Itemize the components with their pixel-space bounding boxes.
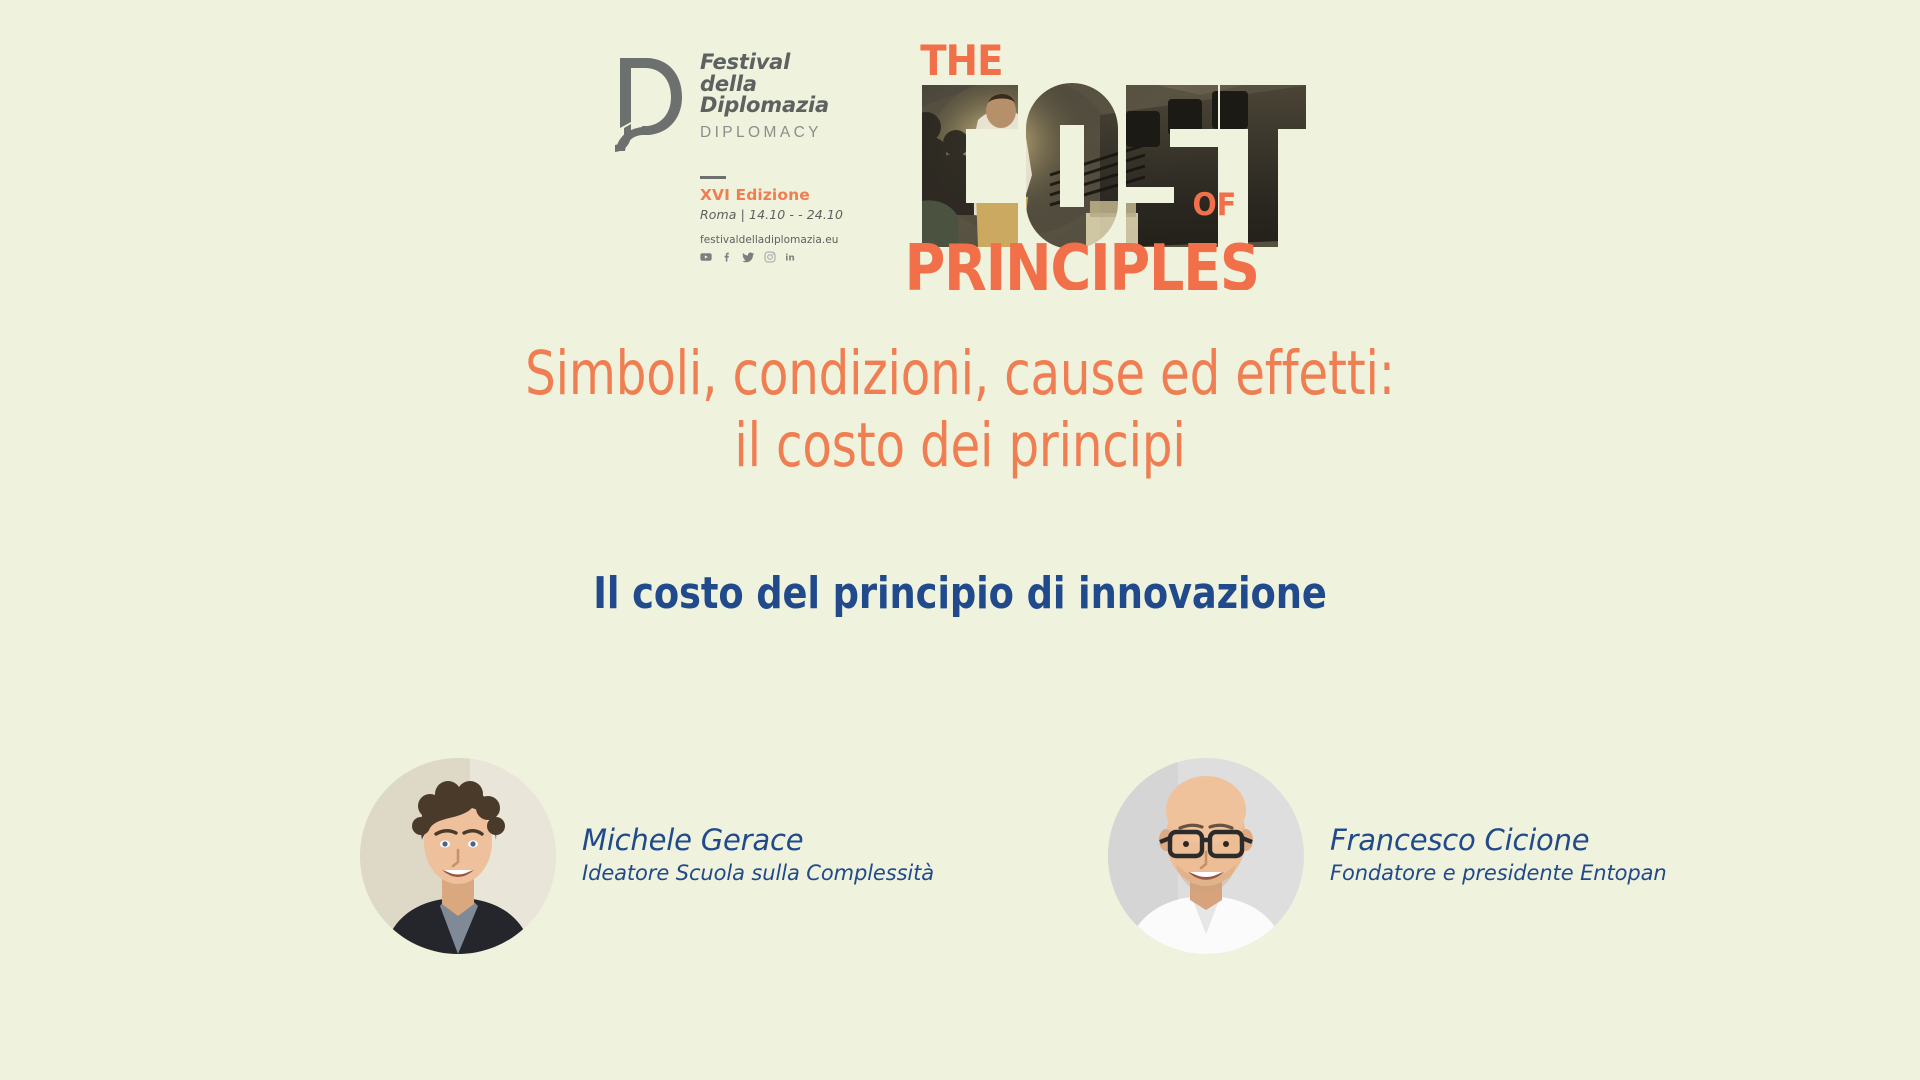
instagram-icon[interactable]: [764, 251, 776, 263]
slide-title-line-1: Simboli, condizioni, cause ed effetti:: [115, 338, 1805, 410]
svg-text:in: in: [785, 253, 795, 263]
slide-title-line-2: il costo dei principi: [115, 410, 1805, 482]
speaker-entry: Francesco Cicione Fondatore e presidente…: [1108, 758, 1667, 954]
header-logo-row: Festival della Diplomazia DIPLOMACY XVI …: [0, 0, 1920, 300]
festival-divider-rule: [700, 176, 726, 179]
festival-name: Festival della Diplomazia: [700, 52, 829, 117]
facebook-icon[interactable]: [721, 251, 733, 263]
speakers-row: Michele Gerace Ideatore Scuola sulla Com…: [0, 758, 1920, 968]
festival-della-diplomazia-logo: Festival della Diplomazia DIPLOMACY XVI …: [612, 50, 862, 285]
youtube-icon[interactable]: [700, 251, 712, 263]
speaker-name: Michele Gerace: [582, 821, 934, 859]
twitter-icon[interactable]: [742, 251, 755, 263]
cost-logo-word-cost: [922, 83, 1306, 249]
speaker-role: Fondatore e presidente Entopan: [1330, 860, 1667, 888]
avatar: [360, 758, 556, 954]
speaker-text: Michele Gerace Ideatore Scuola sulla Com…: [582, 821, 934, 892]
festival-logo-top: Festival della Diplomazia DIPLOMACY: [612, 50, 862, 154]
speaker-entry: Michele Gerace Ideatore Scuola sulla Com…: [360, 758, 934, 954]
diplomazia-d-mark-icon: [612, 54, 686, 154]
avatar: [1108, 758, 1304, 954]
cost-logo-word-principles: PRINCIPLES: [905, 231, 1259, 290]
festival-edition-label: XVI Edizione: [700, 186, 862, 204]
the-cost-of-principles-logo: THE OF: [900, 25, 1310, 290]
festival-social-icons: in: [700, 251, 862, 263]
presentation-slide: Festival della Diplomazia DIPLOMACY XVI …: [0, 0, 1920, 1080]
speaker-name: Francesco Cicione: [1330, 821, 1667, 859]
cost-logo-word-the: THE: [920, 36, 1002, 85]
slide-subtitle: Il costo del principio di innovazione: [67, 568, 1853, 619]
speaker-role: Ideatore Scuola sulla Complessità: [582, 860, 934, 888]
festival-wordmark: Festival della Diplomazia DIPLOMACY: [700, 50, 829, 142]
slide-title: Simboli, condizioni, cause ed effetti: i…: [115, 338, 1805, 482]
festival-website[interactable]: festivaldelladiplomazia.eu: [700, 234, 862, 246]
festival-dates: Roma | 14.10 - - 24.10: [700, 207, 862, 222]
cost-logo-word-of: OF: [1193, 187, 1237, 223]
speaker-text: Francesco Cicione Fondatore e presidente…: [1330, 821, 1667, 892]
linkedin-icon[interactable]: in: [785, 251, 799, 263]
festival-subtitle-diplomacy: DIPLOMACY: [700, 124, 829, 142]
